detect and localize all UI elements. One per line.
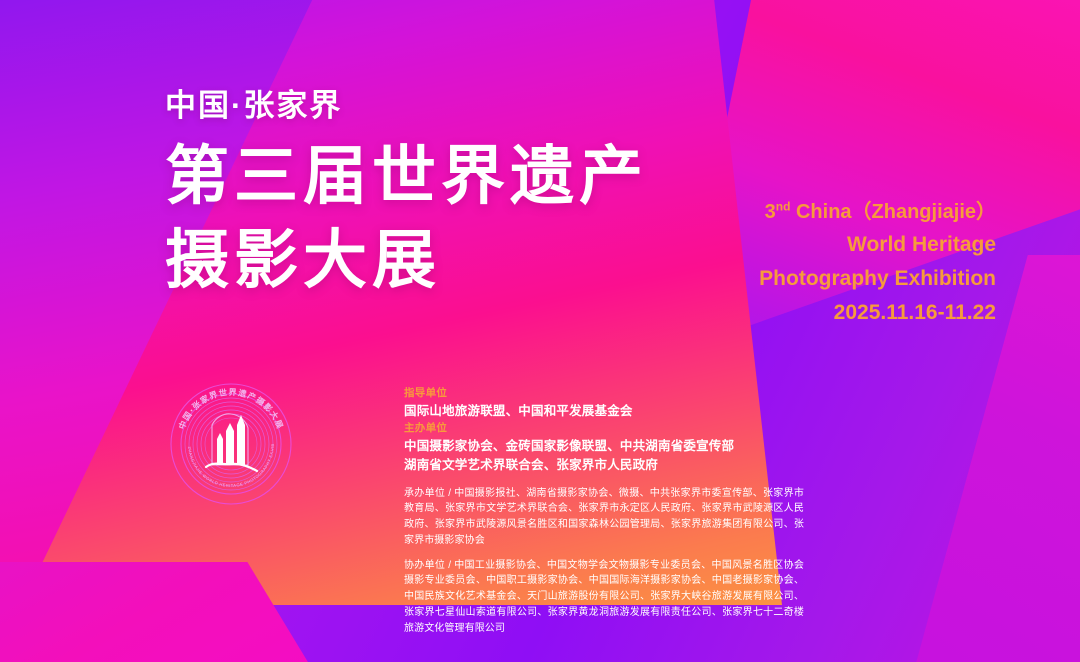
guidance-unit-label: 指导单位 <box>404 386 804 402</box>
host-unit-label: 主办单位 <box>404 421 804 437</box>
edition-number: 3 <box>765 201 776 223</box>
exhibition-seal-logo: 中国·张家界世界遗产摄影大展 CHINA ZHANGJIAJIE WORLD H… <box>168 381 294 507</box>
headline-block: 中国·张家界 第三届世界遗产 摄影大展 <box>165 90 648 296</box>
english-title-line-1: World Heritage <box>759 228 996 262</box>
english-title-line-2: Photography Exhibition <box>759 262 996 296</box>
page-title-line-2: 摄影大展 <box>165 225 648 297</box>
undertaker-unit-paragraph: 承办单位 / 中国摄影报社、湖南省摄影家协会、微摄、中共张家界市委宣传部、张家界… <box>404 486 804 549</box>
seal-chinese-arc-text: 中国·张家界世界遗产摄影大展 <box>176 387 285 431</box>
page-title-line-1: 第三届世界遗产 <box>165 141 648 213</box>
event-dates: 2025.11.16-11.22 <box>759 296 996 330</box>
coorganizer-unit-paragraph: 协办单位 / 中国工业摄影协会、中国文物学会文物摄影专业委员会、中国风景名胜区协… <box>404 558 804 637</box>
host-unit-value-line-1: 中国摄影家协会、金砖国家影像联盟、中共湖南省委宣传部 <box>404 437 804 456</box>
edition-country: China（Zhangjiajie） <box>790 201 996 223</box>
edition-suffix: nd <box>776 199 791 213</box>
host-unit-value-line-2: 湖南省文学艺术界联合会、张家界市人民政府 <box>404 456 804 475</box>
poster-canvas: 中国·张家界 第三届世界遗产 摄影大展 3nd China（Zhangjiaji… <box>0 0 1080 662</box>
kicker-location: 中国·张家界 <box>165 90 648 121</box>
guidance-unit-value: 国际山地旅游联盟、中国和平发展基金会 <box>404 402 804 421</box>
organizers-block: 指导单位 国际山地旅游联盟、中国和平发展基金会 主办单位 中国摄影家协会、金砖国… <box>404 386 804 637</box>
english-title-block: 3nd China（Zhangjiajie） World Heritage Ph… <box>759 196 996 330</box>
svg-text:中国·张家界世界遗产摄影大展: 中国·张家界世界遗产摄影大展 <box>176 387 285 431</box>
english-edition-line: 3nd China（Zhangjiajie） <box>759 196 996 228</box>
